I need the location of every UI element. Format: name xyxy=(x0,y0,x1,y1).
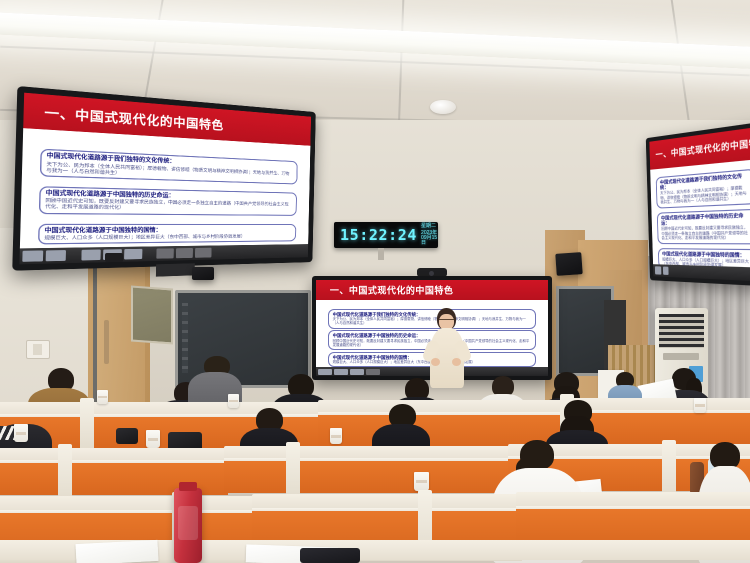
slide-right: 一、中国式现代化的中国特色 中国式现代化道路源于我们独特的文化传统： 天下为公、… xyxy=(649,127,750,282)
slide-box-1-right: 中国式现代化道路源于我们独特的文化传统： 天下为公、民为邦本（全体人民共同富裕）… xyxy=(655,168,750,208)
desk-divider xyxy=(662,440,676,500)
slide-taskbar[interactable] xyxy=(19,244,310,264)
taskbar-icon-6[interactable] xyxy=(156,249,174,259)
left-wall-speaker-icon xyxy=(192,267,214,280)
camera-mount xyxy=(105,253,123,262)
paper-cup xyxy=(414,472,429,491)
left-display-bezel: 一、中国式现代化的中国特色 中国式现代化道路源于我们独特的文化传统： 天下为公、… xyxy=(12,86,316,271)
printed-handout xyxy=(76,540,159,563)
desk-divider xyxy=(58,444,72,504)
slide-header-text: 一、中国式现代化的中国特色 xyxy=(44,102,224,133)
paper-cup xyxy=(694,398,706,413)
bottle-cap xyxy=(179,482,197,491)
taskbar-icon-c2[interactable] xyxy=(334,369,348,375)
taskbar-icon-r2[interactable] xyxy=(663,266,669,275)
slide-body: 中国式现代化道路源于我们独特的文化传统： 天下为公、民为邦本（全体人民共同富裕）… xyxy=(19,129,310,265)
left-display-mount xyxy=(156,263,195,276)
smartphone[interactable] xyxy=(300,548,360,563)
taskbar-icon-2[interactable] xyxy=(46,250,66,261)
ac-grille-icon xyxy=(659,314,704,348)
taskbar-icon-c3[interactable] xyxy=(350,369,364,375)
bottle-highlight xyxy=(178,506,198,540)
presenter-left-hand xyxy=(431,358,440,366)
black-bag xyxy=(116,428,138,444)
red-water-bottle xyxy=(174,488,202,563)
taskbar-icon-1[interactable] xyxy=(22,251,43,262)
clock-date: 2023年09月15日 xyxy=(421,231,438,246)
door-handle[interactable] xyxy=(104,320,109,364)
paper-cup xyxy=(14,424,28,442)
desk-divider xyxy=(286,442,300,502)
clock-mount xyxy=(378,248,384,260)
right-wall-speaker-icon xyxy=(555,252,582,276)
right-wall-display[interactable]: 一、中国式现代化的中国特色 中国式现代化道路源于我们独特的文化传统： 天下为公、… xyxy=(646,121,750,293)
slide-taskbar-right[interactable] xyxy=(653,264,750,281)
slide-box-2: 中国式现代化道路源于中国独特的历史命运： 回顾中国近代史可知，既要反封建又要寻求… xyxy=(38,186,297,215)
ac-display-panel xyxy=(663,353,699,360)
slide-header-text-center: 一、中国式现代化的中国特色 xyxy=(330,284,454,297)
taskbar-icon-3[interactable] xyxy=(81,250,101,261)
taskbar-icon-7[interactable] xyxy=(176,248,193,258)
slide-body-right: 中国式现代化道路源于我们独特的文化传统： 天下为公、民为邦本（全体人民共同富裕）… xyxy=(650,159,750,282)
slide-header-band-center: 一、中国式现代化的中国特色 xyxy=(316,280,548,300)
light-switch-panel[interactable] xyxy=(26,340,50,359)
slide-header-text-right: 一、中国式现代化的中国特色 xyxy=(655,136,750,161)
presenter-speaker xyxy=(425,308,469,388)
slide-box-2-right: 中国式现代化道路源于中国独特的历史命运： 回顾中国近代史可知，既要反封建又要寻求… xyxy=(656,208,750,244)
clock-weekday: 星期二 xyxy=(421,224,438,229)
lecture-hall-photo: 一、中国式现代化的中国特色 中国式现代化道路源于我们独特的文化传统： 天下为公、… xyxy=(0,0,750,563)
paper-cup xyxy=(228,394,239,408)
right-display-bezel: 一、中国式现代化的中国特色 中国式现代化道路源于我们独特的文化传统： 天下为公、… xyxy=(646,121,750,286)
slide-box-3: 中国式现代化道路源于中国独特的国情： 规模巨大、人口众多（人口规模巨大）；地区差… xyxy=(37,223,296,244)
taskbar-icon-r1[interactable] xyxy=(655,266,661,275)
taskbar-icon-c4[interactable] xyxy=(366,369,380,375)
presenter-right-hand xyxy=(452,358,461,366)
glasses-icon xyxy=(439,319,454,323)
slide-left: 一、中国式现代化的中国特色 中国式现代化道路源于我们独特的文化传统： 天下为公、… xyxy=(19,93,311,265)
slide-box-2-body-right: 回顾中国近代史可知，既要反封建又要寻求民族独立，中国必须走一条独立自主的道路（中… xyxy=(661,225,750,240)
left-wall-board xyxy=(131,286,173,345)
clock-time: 15:22:24 xyxy=(340,226,417,244)
taskbar-icon-5[interactable] xyxy=(124,249,142,259)
taskbar-icon-8[interactable] xyxy=(195,248,212,258)
digital-wall-clock: 15:22:24 星期二 2023年09月15日 xyxy=(334,222,438,248)
paper-cup xyxy=(146,430,160,448)
smoke-detector-icon xyxy=(430,100,456,114)
desk-divider xyxy=(80,398,94,452)
left-wall-display[interactable]: 一、中国式现代化的中国特色 中国式现代化道路源于我们独特的文化传统： 天下为公、… xyxy=(12,86,316,281)
slide-box-1: 中国式现代化道路源于我们独特的文化传统： 天下为公、民为邦本（全体人民共同富裕）… xyxy=(39,149,298,185)
clock-date-group: 星期二 2023年09月15日 xyxy=(421,224,438,246)
paper-cup xyxy=(97,390,108,404)
paper-cup xyxy=(330,428,342,444)
desk-row-2-center xyxy=(224,446,514,498)
slide-box-3-body: 规模巨大、人口众多（人口规模巨大）；地区差异巨大（东中西部、城市与乡村阶段协调发… xyxy=(44,233,291,241)
